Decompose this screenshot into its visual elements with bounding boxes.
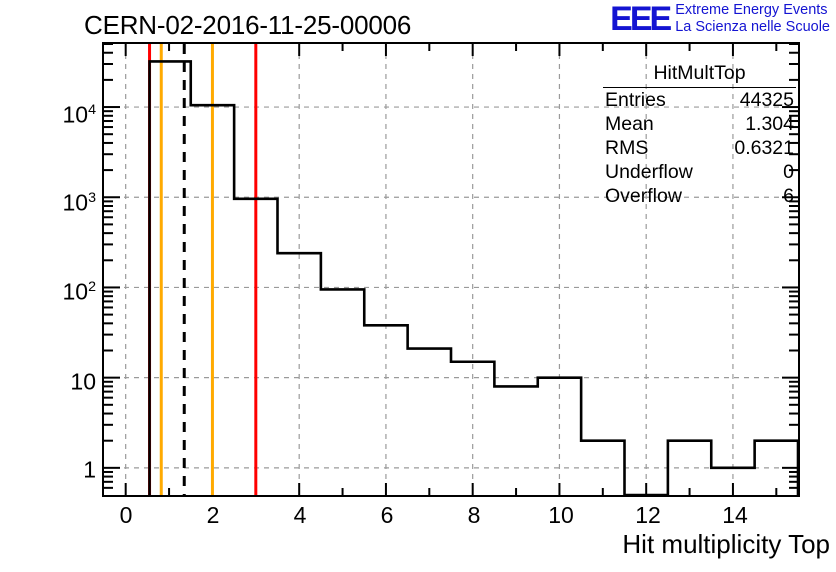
x-tick-6: 6: [381, 502, 394, 529]
stats-label: Entries: [603, 89, 666, 112]
marker-lines: [150, 44, 256, 495]
eee-logo: EEE Extreme Energy Events La Scienza nel…: [610, 2, 830, 36]
stats-value: 0: [783, 161, 796, 184]
x-tick-12: 12: [635, 502, 661, 529]
stats-row-overflow: Overflow 6: [603, 184, 796, 208]
x-tick-0: 0: [120, 502, 133, 529]
x-tick-10: 10: [548, 502, 574, 529]
eee-logo-line1: Extreme Energy Events: [675, 2, 830, 19]
eee-logo-line2: La Scienza nelle Scuole: [675, 19, 830, 36]
stats-value: 0.6321: [734, 137, 796, 160]
x-axis-title: Hit multiplicity Top: [622, 529, 830, 560]
stats-label: Mean: [603, 113, 654, 136]
x-tick-4: 4: [294, 502, 307, 529]
stats-row-rms: RMS 0.6321: [603, 136, 796, 160]
y-tick-100: 102: [62, 279, 96, 306]
stats-label: RMS: [603, 137, 648, 160]
stats-box: HitMultTop Entries 44325 Mean 1.304 RMS …: [603, 62, 796, 208]
y-axis-tick-labels: 1 10 102 103 104: [0, 0, 96, 572]
stats-value: 1.304: [745, 113, 796, 136]
eee-logo-text: Extreme Energy Events La Scienza nelle S…: [675, 2, 830, 35]
page-title: CERN-02-2016-11-25-00006: [84, 10, 411, 41]
stats-label: Overflow: [603, 185, 682, 208]
y-tick-10000: 104: [62, 102, 96, 129]
stats-row-entries: Entries 44325: [603, 88, 796, 112]
stats-label: Underflow: [603, 161, 693, 184]
stats-title: HitMultTop: [603, 62, 796, 88]
x-tick-2: 2: [207, 502, 220, 529]
stats-value: 44325: [740, 89, 796, 112]
root-canvas: CERN-02-2016-11-25-00006 EEE Extreme Ene…: [0, 0, 836, 572]
stats-value: 6: [783, 185, 796, 208]
stats-row-mean: Mean 1.304: [603, 112, 796, 136]
x-tick-14: 14: [722, 502, 748, 529]
y-tick-10: 10: [70, 369, 96, 396]
x-tick-8: 8: [468, 502, 481, 529]
stats-row-underflow: Underflow 0: [603, 160, 796, 184]
y-tick-1000: 103: [62, 190, 96, 217]
y-tick-1: 1: [83, 457, 96, 484]
eee-mark-icon: EEE: [610, 2, 669, 36]
